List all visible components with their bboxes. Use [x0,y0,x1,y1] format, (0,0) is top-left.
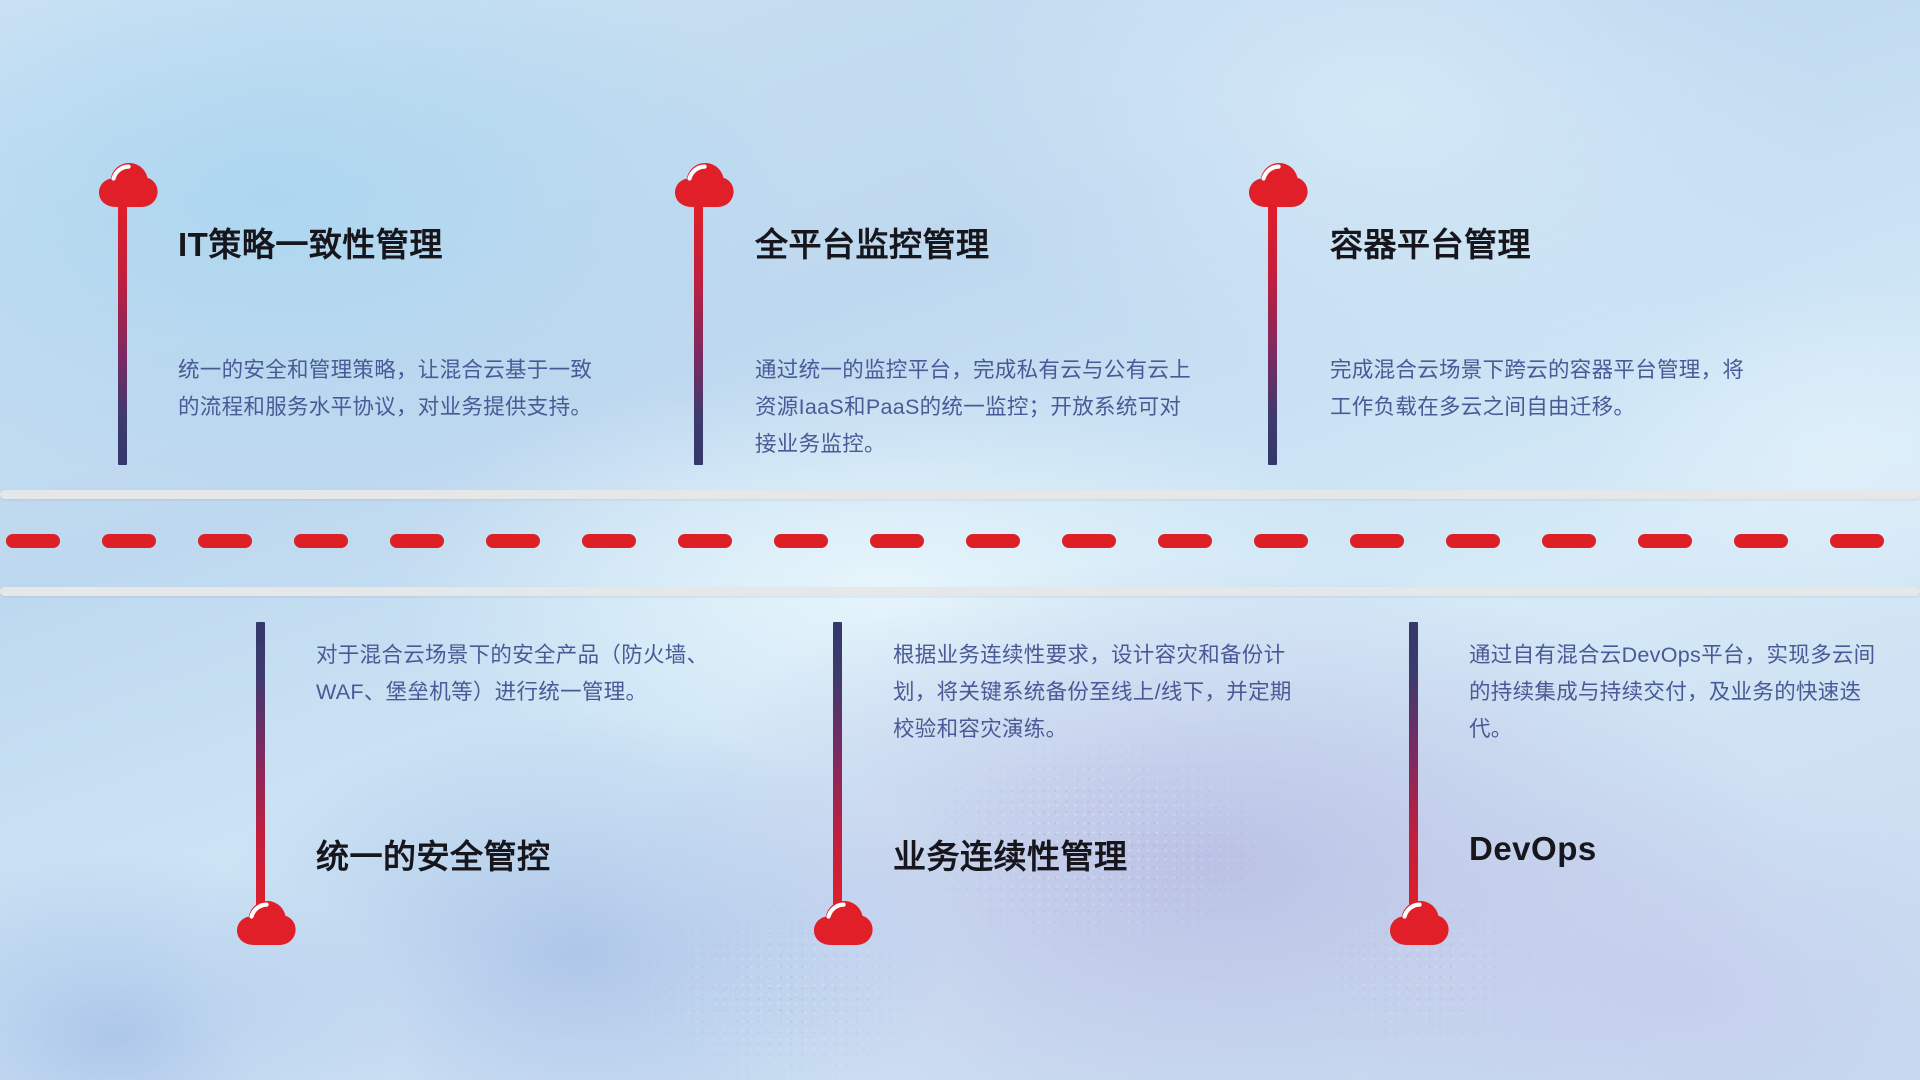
road-dash [1158,534,1212,548]
road-dash [1734,534,1788,548]
road-dash [198,534,252,548]
road-dash [102,534,156,548]
road-dash [1830,534,1884,548]
road-dash [1350,534,1404,548]
pin-stem [1268,205,1277,465]
cloud-icon [672,160,736,210]
item-description: 对于混合云场景下的安全产品（防火墙、WAF、堡垒机等）进行统一管理。 [316,637,736,711]
road-dash [486,534,540,548]
pin-stem [118,205,127,465]
item-description: 通过统一的监控平台，完成私有云与公有云上资源IaaS和PaaS的统一监控；开放系… [755,352,1195,463]
pin-stem [694,205,703,465]
road-dash [1254,534,1308,548]
cloud-icon [1246,160,1310,210]
item-description: 完成混合云场景下跨云的容器平台管理，将工作负载在多云之间自由迁移。 [1330,352,1750,426]
road-dash-row [0,534,1920,548]
pin-stem [833,622,842,910]
cloud-icon [234,898,298,948]
road-divider [0,490,1920,590]
road-dash [774,534,828,548]
road-edge-top [0,490,1920,499]
infographic-stage: IT策略一致性管理 统一的安全和管理策略，让混合云基于一致的流程和服务水平协议，… [0,0,1920,1080]
item-title: IT策略一致性管理 [178,218,443,266]
road-dash [6,534,60,548]
road-dash [1542,534,1596,548]
road-dash [1638,534,1692,548]
cloud-icon [1387,898,1451,948]
road-dash [966,534,1020,548]
pin-stem [1409,622,1418,910]
cloud-icon [96,160,160,210]
road-dash [870,534,924,548]
pin-stem [256,622,265,910]
item-description: 统一的安全和管理策略，让混合云基于一致的流程和服务水平协议，对业务提供支持。 [178,352,610,426]
item-title: 全平台监控管理 [755,218,990,266]
cloud-icon [811,898,875,948]
road-dash [294,534,348,548]
road-dash [1446,534,1500,548]
item-description: 通过自有混合云DevOps平台，实现多云间的持续集成与持续交付，及业务的快速迭代… [1469,637,1889,748]
item-title: 统一的安全管控 [316,830,551,878]
road-dash [1062,534,1116,548]
road-dash [582,534,636,548]
item-description: 根据业务连续性要求，设计容灾和备份计划，将关键系统备份至线上/线下，并定期校验和… [893,637,1313,748]
road-dash [678,534,732,548]
road-edge-bottom [0,587,1920,596]
road-dash [390,534,444,548]
item-title: 业务连续性管理 [893,830,1128,878]
item-title: 容器平台管理 [1330,218,1531,266]
item-title: DevOps [1469,830,1597,868]
